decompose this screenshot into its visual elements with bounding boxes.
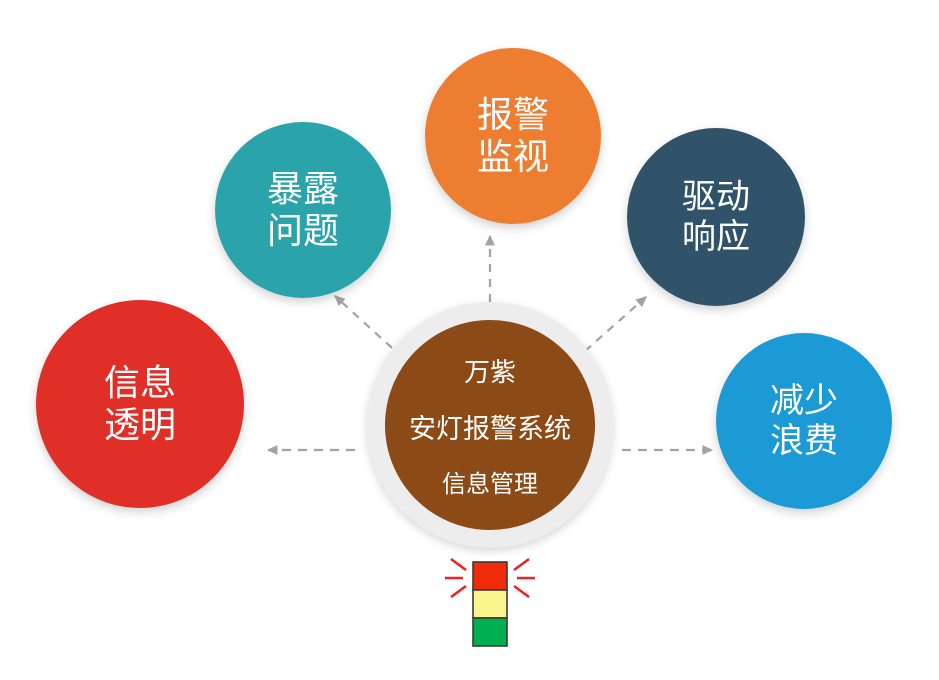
node-information-transparency-label-1: 信息 xyxy=(104,362,176,404)
node-information-transparency[interactable]: 信息 透明 xyxy=(36,300,244,508)
yellow-lamp-icon xyxy=(473,590,507,618)
node-information-transparency-label-2: 透明 xyxy=(104,404,176,446)
node-expose-problems-label-2: 问题 xyxy=(267,210,339,252)
diagram-canvas: 万紫 安灯报警系统 信息管理 报警 监视 暴露 问题 驱动 响应 信息 透明 减… xyxy=(0,0,939,680)
andon-light-icon xyxy=(440,548,540,652)
red-lamp-icon xyxy=(473,562,507,590)
center-hub-line-2: 安灯报警系统 xyxy=(409,407,571,446)
node-reduce-waste-label-2: 浪费 xyxy=(770,421,838,461)
node-drive-response-label-2: 响应 xyxy=(682,217,750,257)
node-expose-problems[interactable]: 暴露 问题 xyxy=(215,122,391,298)
connector-arrow-up-left xyxy=(335,296,392,348)
node-alarm-monitoring-label-2: 监视 xyxy=(477,136,549,178)
node-reduce-waste-label-1: 减少 xyxy=(770,381,838,421)
node-reduce-waste[interactable]: 减少 浪费 xyxy=(716,333,892,509)
connector-arrow-up-right xyxy=(585,297,646,351)
node-alarm-monitoring-label-1: 报警 xyxy=(477,94,549,136)
center-hub-line-1: 万紫 xyxy=(464,352,516,389)
node-alarm-monitoring[interactable]: 报警 监视 xyxy=(425,48,601,224)
node-drive-response-label-1: 驱动 xyxy=(682,177,750,217)
center-hub-disc: 万紫 安灯报警系统 信息管理 xyxy=(385,320,595,530)
node-drive-response[interactable]: 驱动 响应 xyxy=(627,128,805,306)
center-hub-line-3: 信息管理 xyxy=(442,464,538,499)
node-expose-problems-label-1: 暴露 xyxy=(267,168,339,210)
center-hub[interactable]: 万紫 安灯报警系统 信息管理 xyxy=(367,302,613,548)
green-lamp-icon xyxy=(473,618,507,646)
